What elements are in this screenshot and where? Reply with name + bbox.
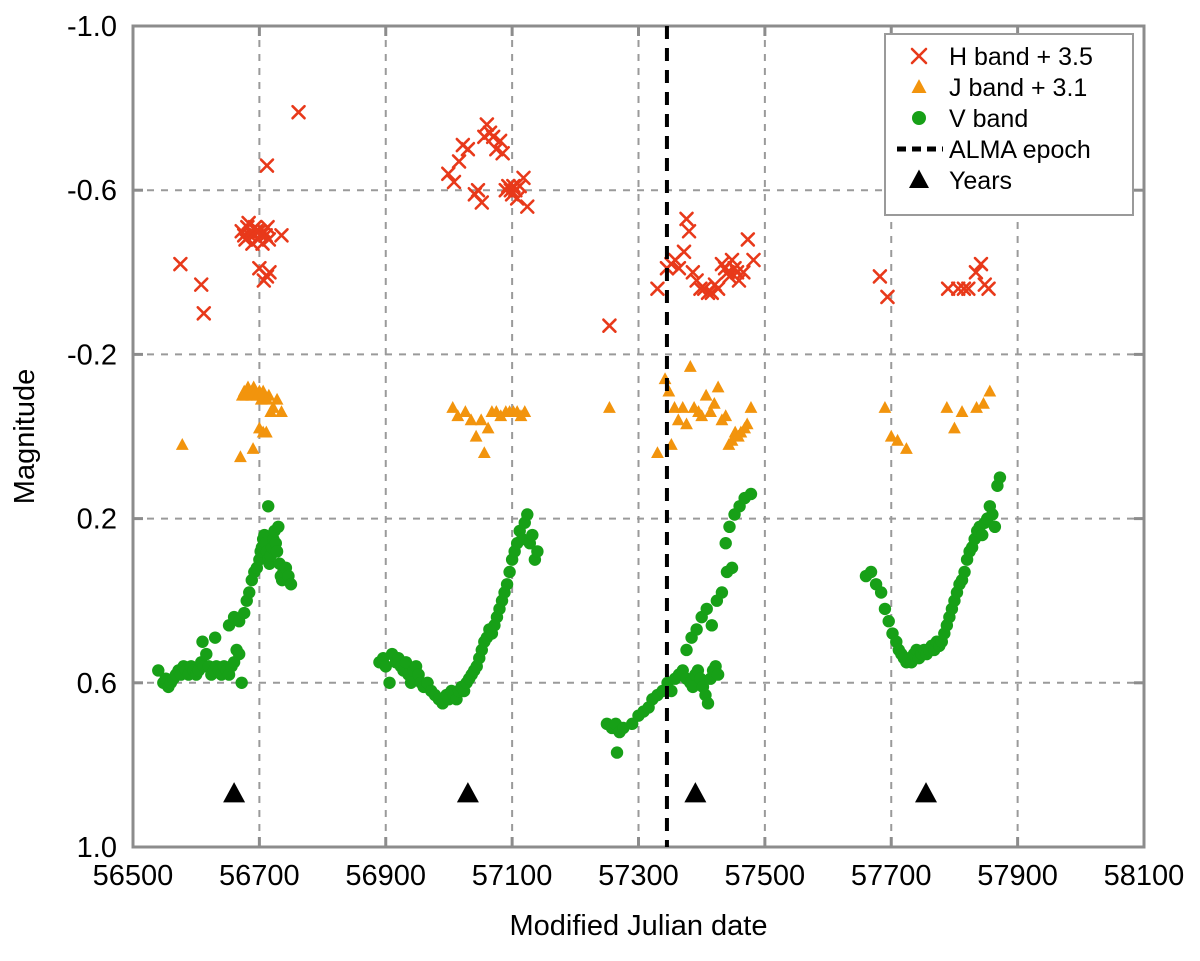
x-axis-title: Modified Julian date: [510, 910, 768, 942]
data-point: [611, 746, 623, 758]
ytick-label: 0.6: [77, 668, 117, 700]
data-point: [719, 537, 731, 549]
xtick-label: 57100: [472, 860, 553, 892]
ytick-label: 0.2: [77, 504, 117, 536]
data-point: [272, 521, 284, 533]
data-point: [200, 648, 212, 660]
data-point: [690, 623, 702, 635]
data-point: [702, 697, 714, 709]
xtick-label: 56500: [93, 860, 174, 892]
data-point: [526, 529, 538, 541]
data-point: [233, 648, 245, 660]
data-point: [883, 615, 895, 627]
data-point: [712, 668, 724, 680]
legend: H band + 3.5J band + 3.1V bandALMA epoch…: [885, 34, 1133, 215]
data-point: [875, 586, 887, 598]
ytick-label: -1.0: [67, 11, 117, 43]
data-point: [503, 566, 515, 578]
data-point: [238, 607, 250, 619]
data-point: [865, 566, 877, 578]
xtick-label: 56700: [219, 860, 300, 892]
data-point: [196, 636, 208, 648]
xtick-label: 58100: [1104, 860, 1185, 892]
data-point: [958, 566, 970, 578]
data-point: [271, 545, 283, 557]
legend-label: ALMA epoch: [949, 136, 1091, 164]
legend-label: J band + 3.1: [949, 74, 1087, 102]
ytick-label: -0.6: [67, 175, 117, 207]
chart-figure: 5650056700569005710057300575005770057900…: [0, 0, 1200, 961]
scatter-plot: 5650056700569005710057300575005770057900…: [0, 0, 1200, 961]
data-point: [986, 508, 998, 520]
data-point: [501, 578, 513, 590]
data-point: [235, 677, 247, 689]
data-point: [243, 586, 255, 598]
data-point: [262, 500, 274, 512]
data-point: [726, 562, 738, 574]
data-point: [989, 521, 1001, 533]
legend-marker-v-band: [912, 111, 926, 125]
data-point: [531, 545, 543, 557]
legend-label: V band: [949, 105, 1028, 133]
data-point: [521, 508, 533, 520]
data-point: [745, 488, 757, 500]
data-point: [209, 631, 221, 643]
data-point: [701, 603, 713, 615]
data-point: [680, 644, 692, 656]
ytick-label: -0.2: [67, 339, 117, 371]
ytick-label: 1.0: [77, 832, 117, 864]
xtick-label: 56900: [345, 860, 426, 892]
data-point: [994, 471, 1006, 483]
data-point: [285, 578, 297, 590]
data-point: [716, 586, 728, 598]
data-point: [383, 677, 395, 689]
legend-label: Years: [949, 167, 1012, 195]
xtick-label: 57500: [725, 860, 806, 892]
data-point: [976, 529, 988, 541]
xtick-label: 57300: [598, 860, 679, 892]
data-point: [706, 619, 718, 631]
data-point: [723, 521, 735, 533]
legend-label: H band + 3.5: [949, 43, 1093, 71]
data-point: [879, 603, 891, 615]
y-axis-title: Magnitude: [9, 369, 41, 504]
xtick-label: 57900: [977, 860, 1058, 892]
xtick-label: 57700: [851, 860, 932, 892]
